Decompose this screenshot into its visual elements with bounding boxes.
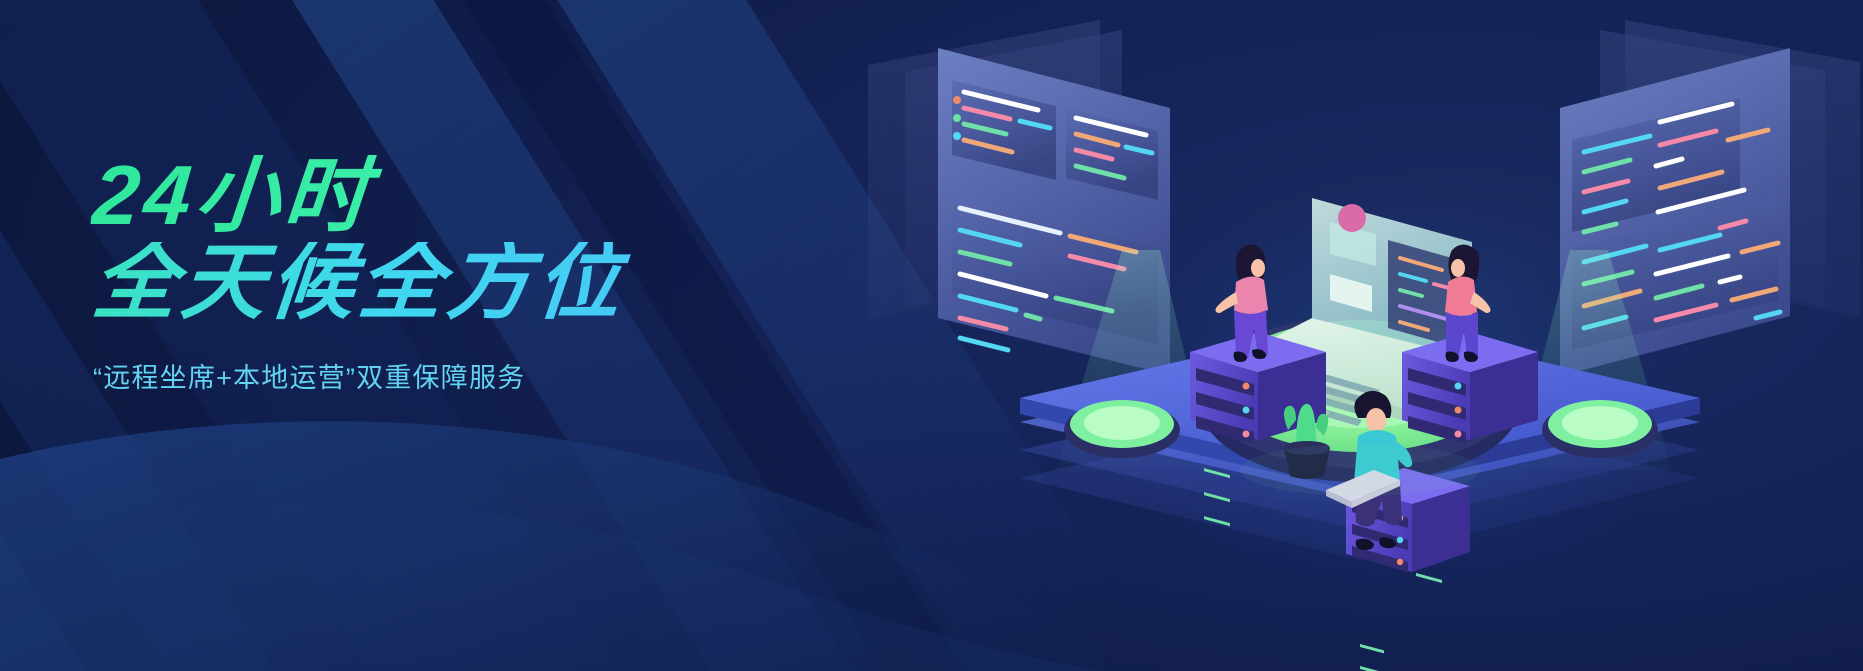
floor-reflections [1240, 444, 1480, 496]
headline-line-1: 24小时 [89, 155, 796, 236]
subtitle: “远程坐席+本地运营”双重保障服务 [93, 356, 793, 395]
headline-line-2: 全天候全方位 [89, 242, 796, 323]
headline-block: 24小时 全天候全方位 “远程坐席+本地运营”双重保障服务 [93, 155, 793, 395]
isometric-illustration [860, 0, 1863, 671]
promo-banner: 24小时 全天候全方位 “远程坐席+本地运营”双重保障服务 [0, 0, 1863, 671]
page-title: 24小时 全天候全方位 [93, 155, 793, 322]
